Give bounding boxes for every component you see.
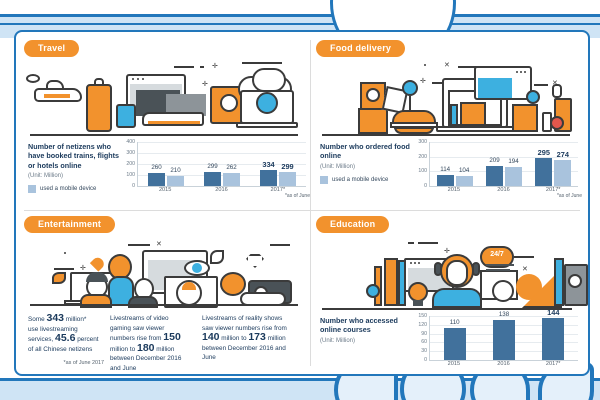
table-row: 194 bbox=[505, 167, 522, 186]
travel-bar-chart: 400 300 200 100 0 bbox=[120, 142, 308, 200]
laptop-base bbox=[236, 122, 298, 128]
bar-group: 295 274 bbox=[529, 142, 578, 186]
bar-group: 110 bbox=[430, 316, 479, 360]
infographic-stage: Travel ✛ ✕ ✛ bbox=[0, 0, 600, 400]
headset-icon bbox=[434, 262, 442, 276]
notebook-hole bbox=[568, 274, 582, 288]
stat3-line4: between December 2016 and bbox=[202, 345, 286, 352]
food-y-axis: 300 200 100 0 bbox=[412, 142, 428, 186]
deco-dash bbox=[408, 242, 414, 244]
food-bar-chart: 300 200 100 0 11 bbox=[412, 142, 580, 200]
speech-bubble-text: 24/7 bbox=[480, 251, 514, 258]
section-education: Education ✛ ✕ bbox=[316, 214, 580, 370]
monitor-dot bbox=[137, 78, 139, 80]
browser-dot bbox=[516, 71, 518, 73]
stat1-percent: 45.6 bbox=[55, 332, 75, 344]
bar-group: 144 bbox=[529, 316, 578, 360]
travel-illustration: ✛ ✕ ✛ bbox=[24, 60, 308, 138]
vertical-divider bbox=[310, 40, 311, 366]
deco-dot bbox=[64, 252, 66, 254]
legend-swatch bbox=[28, 185, 36, 193]
food-legend: used a mobile device bbox=[320, 176, 412, 184]
bar-group: 209 194 bbox=[479, 142, 528, 186]
stat2-line2: gaming saw viewer bbox=[110, 325, 164, 332]
cloud-icon bbox=[26, 74, 40, 83]
paper-bag-icon bbox=[358, 108, 388, 134]
bar-value: 295 bbox=[538, 148, 550, 157]
suitcase-icon bbox=[86, 84, 112, 132]
bar-value: 210 bbox=[170, 167, 180, 174]
y-tick: 0 bbox=[424, 357, 427, 363]
travel-y-axis: 400 300 200 100 0 bbox=[120, 142, 136, 186]
browser-dot bbox=[520, 71, 522, 73]
y-tick: 100 bbox=[418, 168, 427, 174]
location-pin-icon bbox=[526, 90, 540, 104]
x-tick: 2016 bbox=[193, 187, 249, 193]
bar-value: 138 bbox=[499, 311, 509, 318]
location-pin-icon bbox=[402, 80, 418, 96]
entertainment-illustration: ✕ ✛ bbox=[24, 236, 308, 308]
y-tick: 200 bbox=[126, 161, 135, 167]
food-plot-area: 114 104 209 bbox=[429, 142, 578, 187]
stat3-unit: million bbox=[266, 335, 286, 342]
deco-dash bbox=[128, 244, 150, 246]
stat2-line5: between December 2016 bbox=[110, 355, 181, 362]
browser-content bbox=[478, 78, 512, 98]
burger-bottom-bun bbox=[394, 127, 434, 134]
table-row: 210 bbox=[167, 176, 184, 186]
diamond-icon bbox=[246, 254, 264, 268]
table-row: 144 bbox=[542, 318, 564, 360]
table-row: 110 bbox=[444, 328, 466, 360]
stat3-line5: June bbox=[202, 354, 216, 361]
education-data-row: Number who accessed online courses (Unit… bbox=[316, 316, 580, 374]
stat2-number-to: 180 bbox=[137, 342, 155, 354]
stat3-mid: million to bbox=[220, 335, 249, 342]
section-entertainment: Entertainment ✕ ✛ bbox=[24, 214, 308, 370]
food-x-labels: 2015 2016 2017* bbox=[429, 187, 578, 193]
bar-group: 299 262 bbox=[194, 142, 250, 186]
food-caption: Number who ordered food online bbox=[320, 142, 412, 161]
education-x-labels: 2015 2016 2017* bbox=[429, 361, 578, 367]
person-body-icon bbox=[432, 288, 482, 308]
bar-value: 209 bbox=[489, 157, 499, 164]
bar-group: 114 104 bbox=[430, 142, 479, 186]
stat1-line3: services, bbox=[28, 336, 55, 343]
stat1-note: *as of June 2017 bbox=[28, 359, 104, 369]
ruler-icon bbox=[384, 258, 398, 306]
food-unit: (Unit: Million) bbox=[320, 164, 412, 170]
cursor-hand-icon bbox=[552, 84, 562, 98]
laptop-base bbox=[436, 126, 514, 132]
education-plot-area: 110 138 144 bbox=[429, 316, 578, 361]
section-food-delivery: Food delivery ✕ ✛ ✛ ✕ bbox=[316, 38, 580, 208]
travel-legend: used a mobile device bbox=[28, 185, 120, 193]
education-unit: (Unit: Million) bbox=[320, 338, 412, 344]
bird-icon bbox=[210, 250, 224, 264]
train-stripe bbox=[148, 121, 200, 124]
food-illustration: ✕ ✛ ✛ ✕ bbox=[316, 60, 580, 138]
food-data-row: Number who ordered food online (Unit: Mi… bbox=[316, 142, 580, 200]
airplane-tail-icon bbox=[46, 80, 64, 90]
illustration-ground-line bbox=[322, 134, 570, 136]
y-tick: 60 bbox=[421, 339, 427, 345]
bottom-band-fill bbox=[0, 380, 600, 400]
stat1-prefix: Some bbox=[28, 316, 46, 323]
table-row: 262 bbox=[223, 173, 240, 186]
bar-value: 110 bbox=[450, 319, 460, 326]
bird-icon bbox=[52, 272, 66, 284]
stat2-number-from: 150 bbox=[163, 331, 181, 343]
table-row: 104 bbox=[456, 176, 473, 186]
main-card: Travel ✛ ✕ ✛ bbox=[14, 30, 590, 376]
entertainment-stat-3: Livestreams of reality shows saw viewer … bbox=[202, 314, 308, 374]
stat1-line4: of all Chinese netizens bbox=[28, 346, 92, 353]
stat3-line1: Livestreams of reality shows bbox=[202, 315, 282, 322]
gear-icon bbox=[492, 280, 514, 302]
browser-dot bbox=[524, 71, 526, 73]
travel-caption-block: Number of netizens who have booked train… bbox=[24, 142, 120, 193]
education-bar-chart: 150 120 90 60 30 0 bbox=[412, 316, 580, 374]
stat1-percent-word: percent bbox=[75, 336, 98, 343]
bar-group: 138 bbox=[479, 316, 528, 360]
table-row: 334 bbox=[260, 170, 277, 186]
education-illustration: ✛ ✕ bbox=[316, 236, 580, 312]
top-band-line-upper bbox=[0, 14, 600, 17]
y-tick: 0 bbox=[132, 183, 135, 189]
deco-dash bbox=[514, 256, 534, 258]
headset-icon bbox=[472, 262, 480, 276]
x-tick: 2016 bbox=[479, 361, 529, 367]
lightbulb-icon bbox=[408, 282, 428, 302]
y-tick: 120 bbox=[418, 322, 427, 328]
deco-dash bbox=[418, 242, 438, 244]
education-asof-note: *as of June bbox=[589, 361, 590, 367]
education-caption-block: Number who accessed online courses (Unit… bbox=[316, 316, 412, 344]
heart-icon bbox=[90, 255, 106, 271]
travel-caption: Number of netizens who have booked train… bbox=[28, 142, 120, 170]
deco-dash bbox=[270, 244, 290, 246]
illustration-ground-line bbox=[322, 308, 572, 310]
table-row: 260 bbox=[148, 173, 165, 186]
entertainment-stat-2: Livestreams of video gaming saw viewer n… bbox=[110, 314, 196, 374]
deco-dash bbox=[200, 66, 204, 68]
deco-plus-mark: ✛ bbox=[420, 78, 426, 85]
deco-x-mark: ✛ bbox=[212, 63, 218, 70]
shopping-bag-icon bbox=[512, 104, 538, 132]
bar-value: 260 bbox=[151, 164, 161, 171]
deco-x-mark: ✕ bbox=[444, 62, 450, 69]
store-awning-icon bbox=[460, 102, 486, 126]
person-face bbox=[446, 260, 468, 286]
gear-icon bbox=[220, 94, 238, 112]
travel-legend-label: used a mobile device bbox=[40, 186, 96, 192]
travel-asof-note: *as of June bbox=[285, 193, 310, 199]
monitor-dot bbox=[132, 78, 134, 80]
deco-plus-mark: ✛ bbox=[80, 265, 86, 272]
bar-value: 299 bbox=[281, 162, 293, 171]
table-row: 209 bbox=[486, 166, 503, 186]
deco-dash bbox=[534, 84, 548, 86]
education-y-axis: 150 120 90 60 30 0 bbox=[412, 316, 428, 360]
document-line bbox=[486, 269, 510, 271]
section-travel: Travel ✛ ✕ ✛ bbox=[24, 38, 308, 208]
person-body-icon bbox=[128, 296, 158, 308]
avatar-hair bbox=[182, 282, 196, 290]
food-asof-note: *as of June bbox=[557, 193, 582, 199]
y-tick: 30 bbox=[421, 348, 427, 354]
x-tick: 2017* bbox=[528, 361, 578, 367]
badge-entertainment[interactable]: Entertainment bbox=[24, 216, 115, 233]
travel-data-row: Number of netizens who have booked train… bbox=[24, 142, 308, 200]
y-tick: 300 bbox=[418, 139, 427, 145]
bar-value: 274 bbox=[557, 150, 569, 159]
deco-x-mark: ✕ bbox=[156, 241, 162, 248]
education-caption: Number who accessed online courses bbox=[320, 316, 412, 335]
top-band-line-lower bbox=[0, 23, 600, 25]
table-row: 274 bbox=[554, 160, 571, 186]
eye-pupil bbox=[192, 263, 202, 273]
airplane-stripe bbox=[44, 94, 70, 98]
stat3-number-to: 173 bbox=[248, 331, 266, 343]
x-tick: 2015 bbox=[137, 187, 193, 193]
badge-education[interactable]: Education bbox=[316, 216, 389, 233]
y-tick: 400 bbox=[126, 139, 135, 145]
deco-plus-mark: ✛ bbox=[444, 248, 450, 255]
stat1-unit: million* bbox=[64, 316, 86, 323]
suitcase-handle bbox=[94, 78, 104, 86]
travel-unit: (Unit: Million) bbox=[28, 173, 120, 179]
deco-dash bbox=[54, 268, 74, 270]
table-row: 299 bbox=[279, 172, 296, 186]
cloud-icon bbox=[252, 68, 286, 92]
apple-icon bbox=[550, 116, 564, 130]
deco-x-mark: ✕ bbox=[522, 266, 528, 273]
table-row: 114 bbox=[437, 175, 454, 186]
travel-plot-area: 260 210 299 bbox=[137, 142, 306, 187]
deco-dash bbox=[242, 62, 282, 64]
bottom-band-line bbox=[0, 378, 600, 381]
book-spine-icon bbox=[554, 258, 564, 306]
monitor-dot bbox=[142, 78, 144, 80]
coffee-logo-icon bbox=[366, 88, 380, 102]
table-row: 138 bbox=[493, 320, 515, 360]
bar-value: 194 bbox=[508, 158, 518, 165]
bag-icon bbox=[116, 104, 136, 128]
document-line bbox=[486, 264, 514, 266]
bar-value: 262 bbox=[226, 164, 236, 171]
deco-plus-mark: ✛ bbox=[202, 81, 208, 88]
monitor-dot bbox=[418, 262, 420, 264]
illustration-ground-line bbox=[30, 304, 298, 306]
bar-value: 299 bbox=[207, 163, 217, 170]
x-tick: 2015 bbox=[429, 187, 479, 193]
monitor-dot bbox=[414, 262, 416, 264]
table-row: 299 bbox=[204, 172, 221, 186]
bar-value: 104 bbox=[459, 167, 469, 174]
legend-swatch bbox=[320, 176, 328, 184]
clip-icon bbox=[366, 284, 380, 298]
y-tick: 200 bbox=[418, 154, 427, 160]
y-tick: 0 bbox=[424, 183, 427, 189]
x-tick: 2016 bbox=[479, 187, 529, 193]
entertainment-stat-1: Some 343 million* use livestreaming serv… bbox=[28, 314, 104, 374]
bar-value: 144 bbox=[547, 308, 559, 317]
gear-icon bbox=[256, 92, 278, 114]
bar-group: 260 210 bbox=[138, 142, 194, 186]
illustration-ground-line bbox=[30, 134, 298, 136]
stat2-unit: million bbox=[155, 346, 175, 353]
deco-dash bbox=[174, 66, 194, 68]
bar-group: 334 299 bbox=[250, 142, 306, 186]
deco-dot bbox=[424, 64, 426, 66]
stat1-number: 343 bbox=[46, 312, 64, 324]
food-legend-label: used a mobile device bbox=[332, 177, 388, 183]
stat3-number-from: 140 bbox=[202, 331, 220, 343]
stat2-line4: million to bbox=[110, 346, 137, 353]
x-tick: 2015 bbox=[429, 361, 479, 367]
stat2-line1: Livestreams of video bbox=[110, 315, 169, 322]
bar-value: 334 bbox=[262, 160, 274, 169]
y-tick: 150 bbox=[418, 313, 427, 319]
badge-food-delivery[interactable]: Food delivery bbox=[316, 40, 405, 57]
y-tick: 100 bbox=[126, 172, 135, 178]
stat2-line6: and June bbox=[110, 365, 136, 372]
table-row: 295 bbox=[535, 158, 552, 187]
lightbulb-base bbox=[413, 300, 423, 306]
monitor-dot bbox=[410, 262, 412, 264]
horizontal-divider bbox=[24, 210, 580, 211]
bar-value: 114 bbox=[440, 166, 450, 173]
food-caption-block: Number who ordered food online (Unit: Mi… bbox=[316, 142, 412, 184]
badge-travel[interactable]: Travel bbox=[24, 40, 79, 57]
store-window bbox=[450, 104, 458, 126]
y-tick: 90 bbox=[421, 331, 427, 337]
entertainment-text-columns: Some 343 million* use livestreaming serv… bbox=[24, 314, 308, 374]
travel-x-labels: 2015 2016 2017* bbox=[137, 187, 306, 193]
y-tick: 300 bbox=[126, 150, 135, 156]
